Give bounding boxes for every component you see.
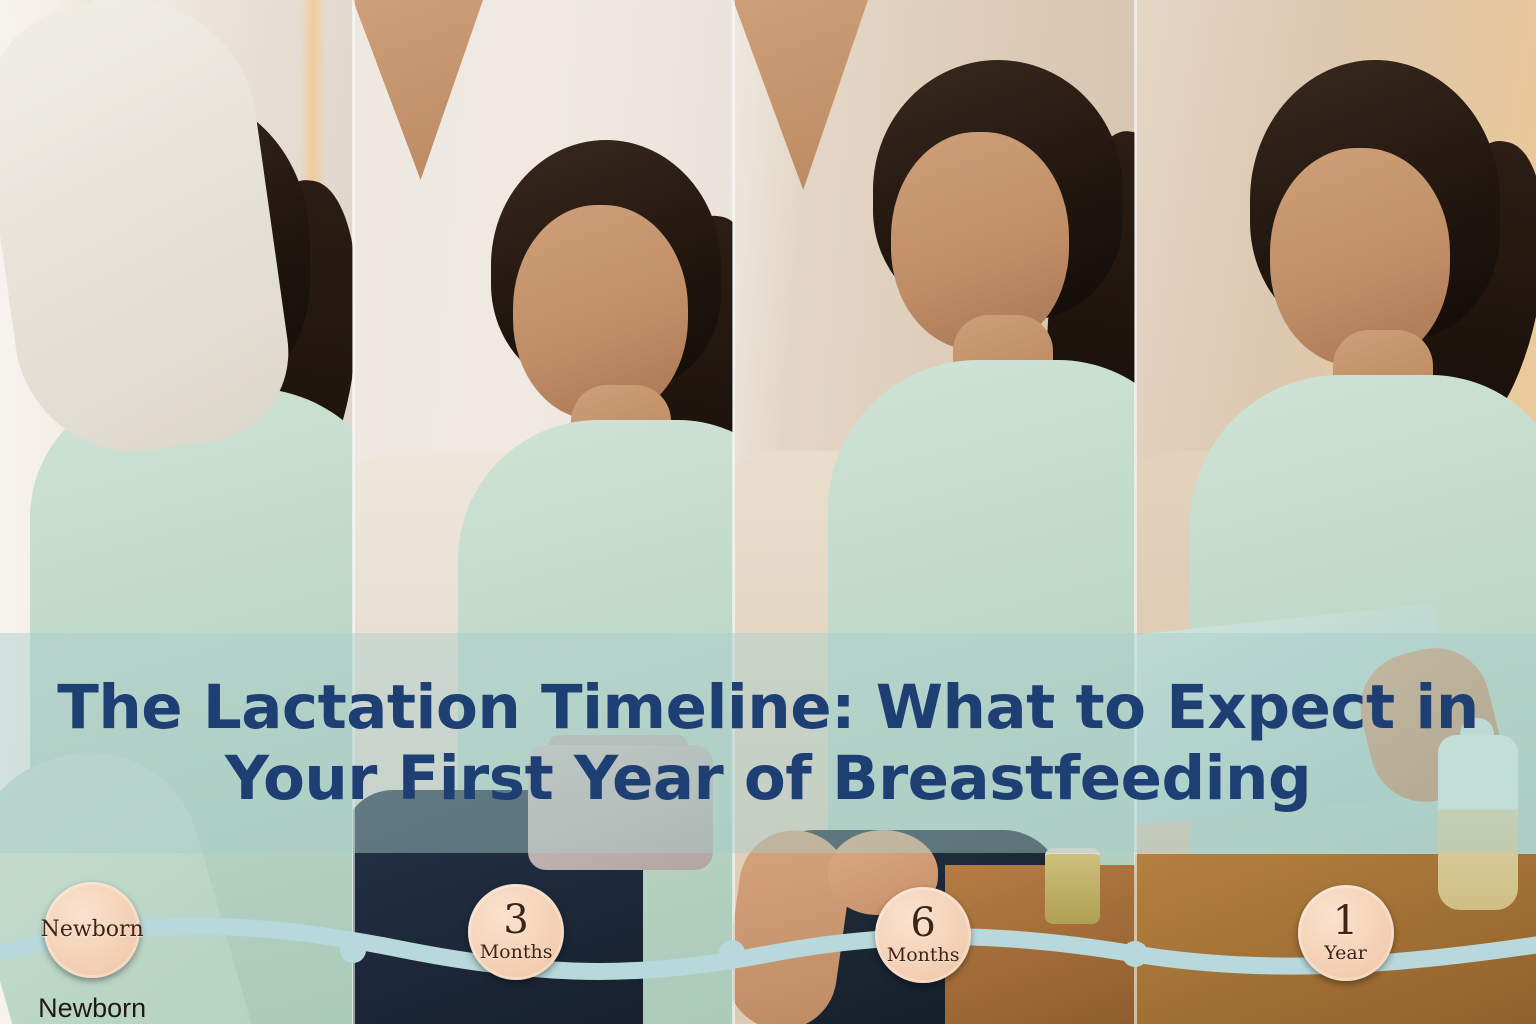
marker-newborn[interactable]: Newborn <box>44 882 140 978</box>
marker-1-year[interactable]: 1 Year <box>1298 885 1394 981</box>
marker-6-months-number: 6 <box>910 903 935 943</box>
page-title-line-2: Your First Year of Breastfeeding <box>225 743 1311 814</box>
timeline-node-2 <box>719 940 745 966</box>
marker-3-months-number: 3 <box>503 900 528 940</box>
marker-newborn-label: Newborn <box>41 919 144 941</box>
page-title-line-1: The Lactation Timeline: What to Expect i… <box>57 672 1479 743</box>
marker-1-year-unit: Year <box>1324 943 1367 965</box>
marker-6-months[interactable]: 6 Months <box>875 887 971 983</box>
marker-6-months-unit: Months <box>887 945 960 967</box>
page-title: The Lactation Timeline: What to Expect i… <box>0 672 1536 815</box>
marker-3-months-unit: Months <box>480 942 553 964</box>
infographic-banner: The Lactation Timeline: What to Expect i… <box>0 0 1536 1024</box>
marker-1-year-number: 1 <box>1333 901 1358 941</box>
timeline-node-1 <box>340 937 366 963</box>
marker-3-months[interactable]: 3 Months <box>468 884 564 980</box>
title-overlay-band: The Lactation Timeline: What to Expect i… <box>0 633 1536 853</box>
timeline-node-3 <box>1122 941 1148 967</box>
marker-newborn-caption: Newborn <box>38 993 146 1024</box>
timeline: Newborn Newborn 3 Months 6 Months 1 Year <box>0 853 1536 1024</box>
